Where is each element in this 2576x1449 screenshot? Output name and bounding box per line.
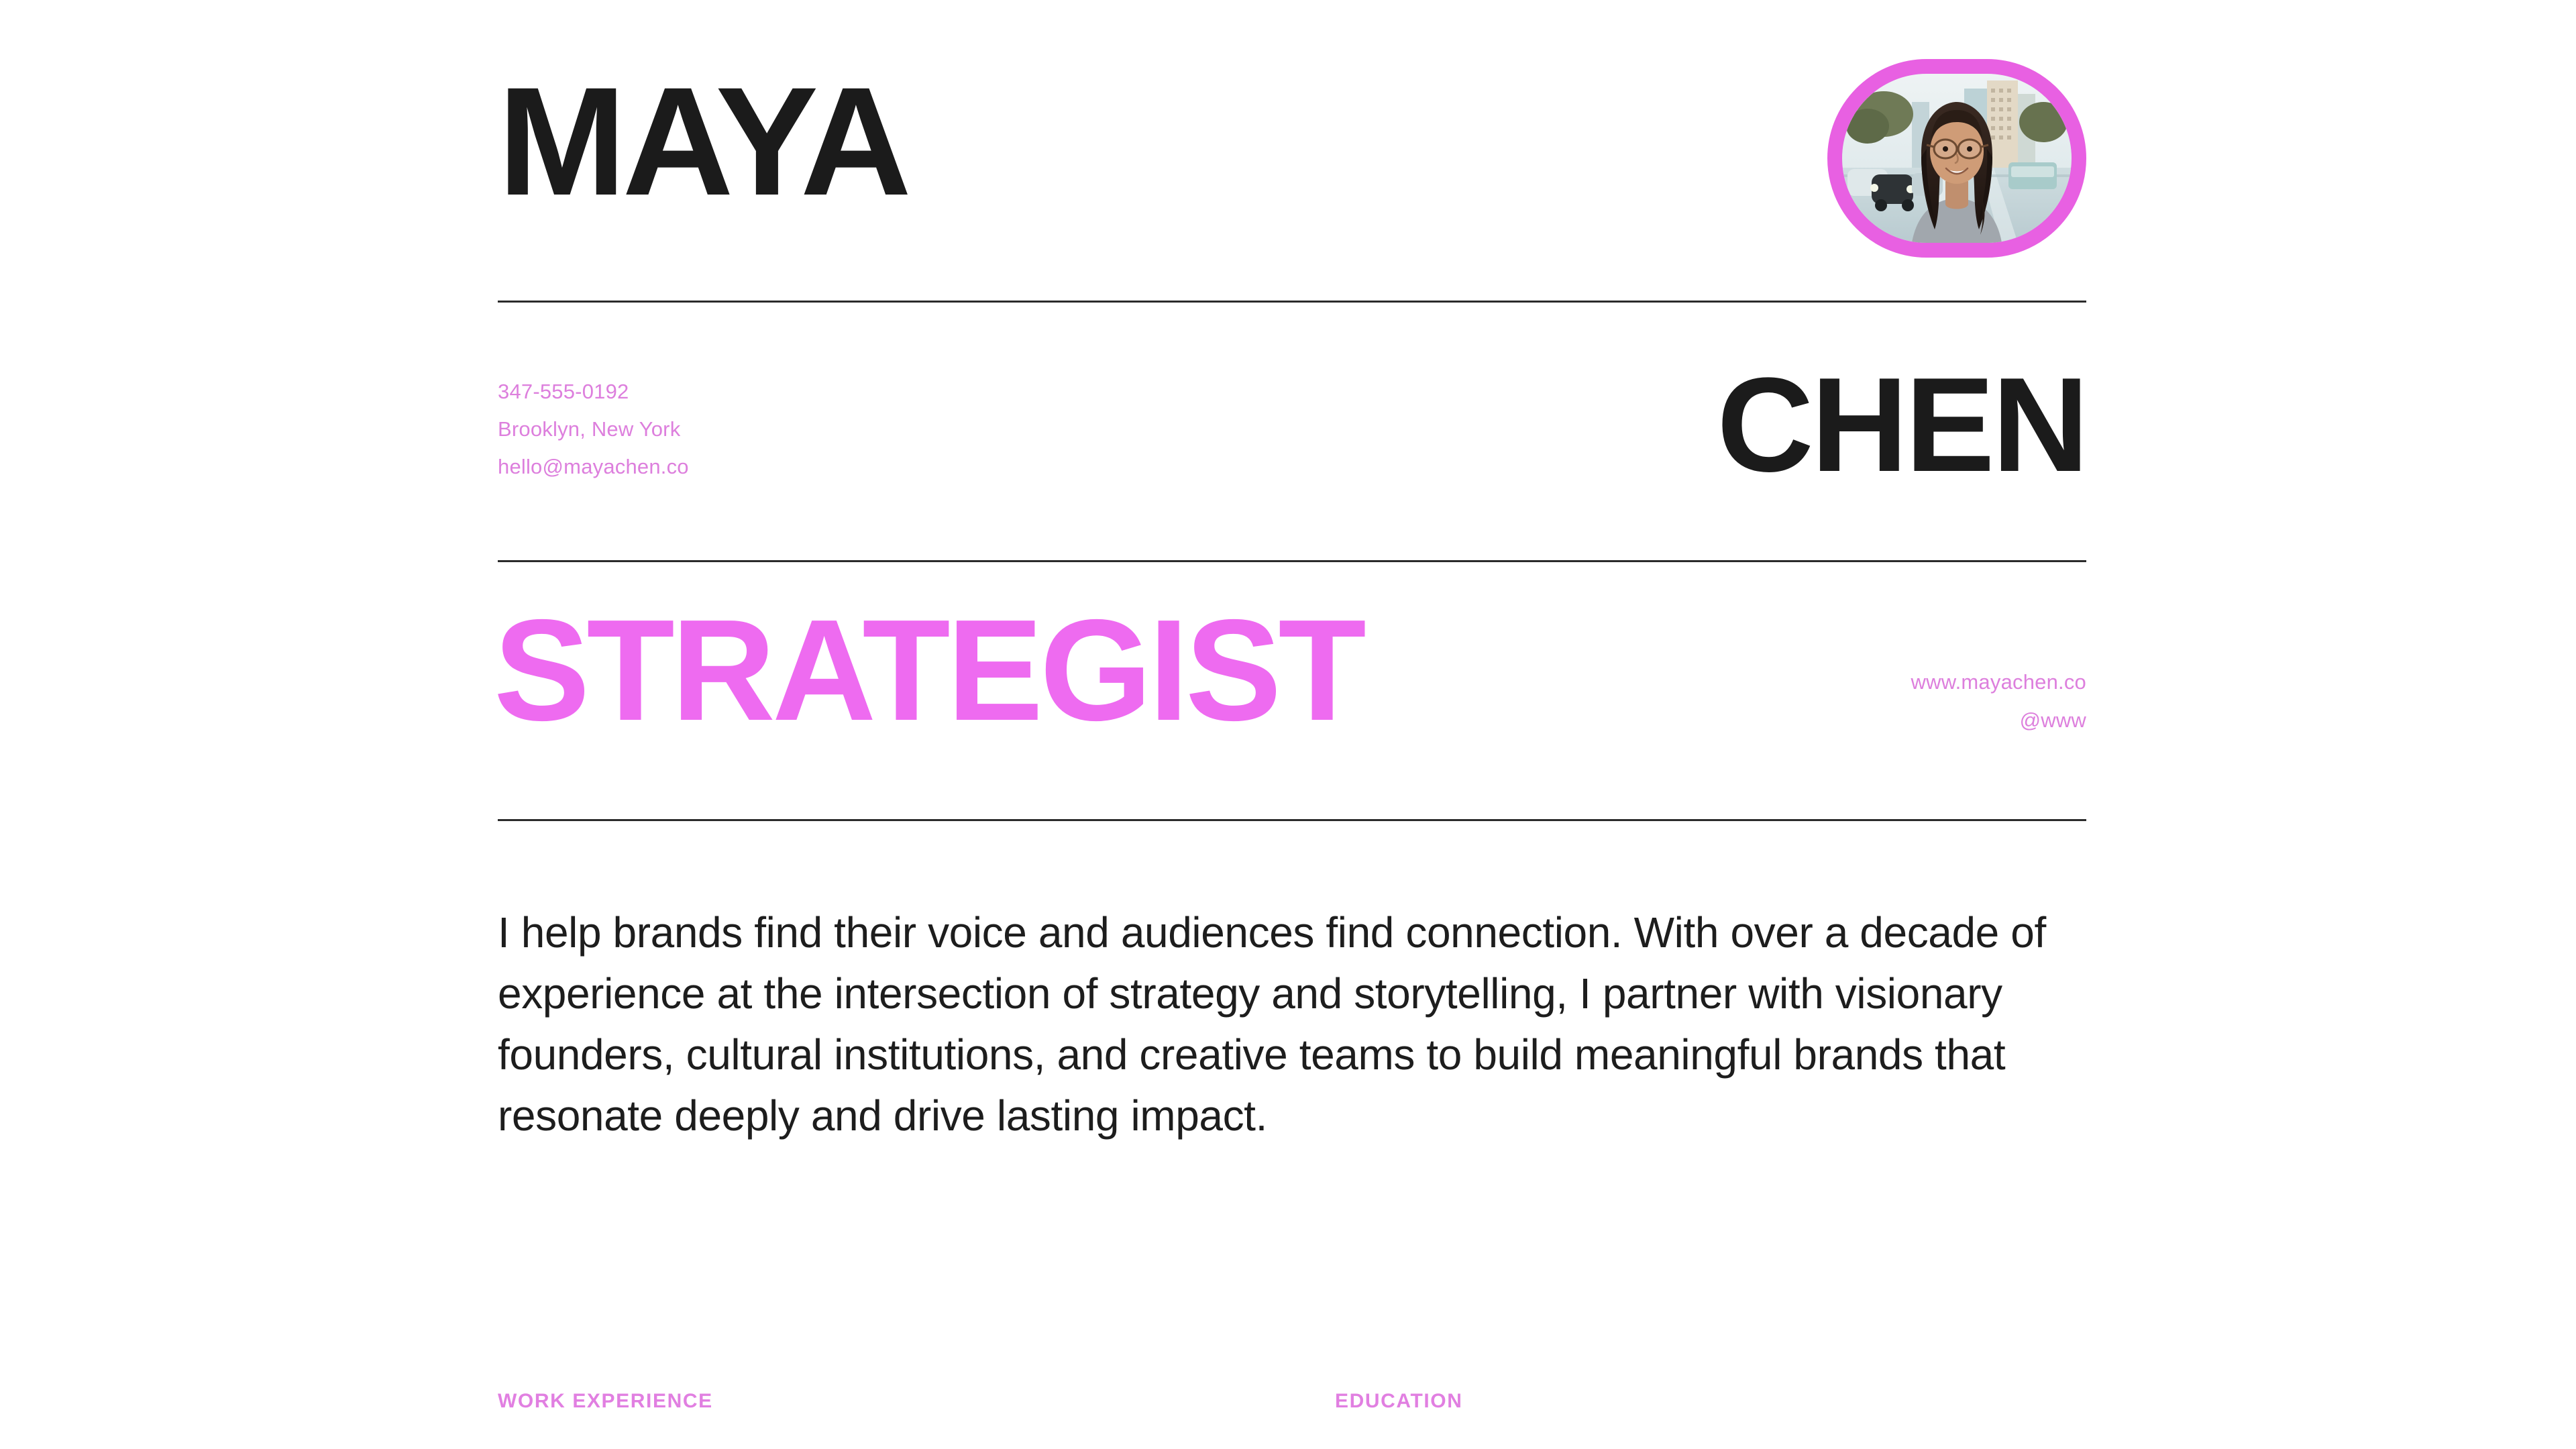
contact-phone[interactable]: 347-555-0192: [498, 373, 689, 411]
header-row-contact: 347-555-0192 Brooklyn, New York hello@ma…: [498, 373, 2086, 547]
resume-page: MAYA: [0, 0, 2576, 1449]
divider-2: [498, 560, 2086, 562]
divider-3: [498, 819, 2086, 821]
avatar: [1827, 59, 2086, 258]
portrait-photo-icon: [1842, 74, 2072, 243]
role-title: STRATEGIST: [494, 604, 1363, 737]
page-title-first-name: MAYA: [498, 74, 908, 209]
section-label-row: WORK EXPERIENCE EDUCATION: [498, 1390, 2086, 1430]
section-label-education: EDUCATION: [1335, 1390, 1463, 1413]
divider-1: [498, 301, 2086, 303]
social-handle-link[interactable]: @www: [1911, 701, 2086, 739]
contact-email[interactable]: hello@mayachen.co: [498, 448, 689, 486]
header-row-first-name: MAYA: [498, 59, 2086, 254]
header-row-role: STRATEGIST www.mayachen.co @www: [498, 604, 2086, 798]
links-block: www.mayachen.co @www: [1911, 663, 2086, 739]
section-label-work-experience: WORK EXPERIENCE: [498, 1390, 713, 1413]
contact-block: 347-555-0192 Brooklyn, New York hello@ma…: [498, 373, 689, 486]
bio-paragraph: I help brands find their voice and audie…: [498, 902, 2086, 1146]
contact-location: Brooklyn, New York: [498, 411, 689, 448]
page-title-last-name: CHEN: [1717, 365, 2086, 486]
website-link[interactable]: www.mayachen.co: [1911, 663, 2086, 701]
